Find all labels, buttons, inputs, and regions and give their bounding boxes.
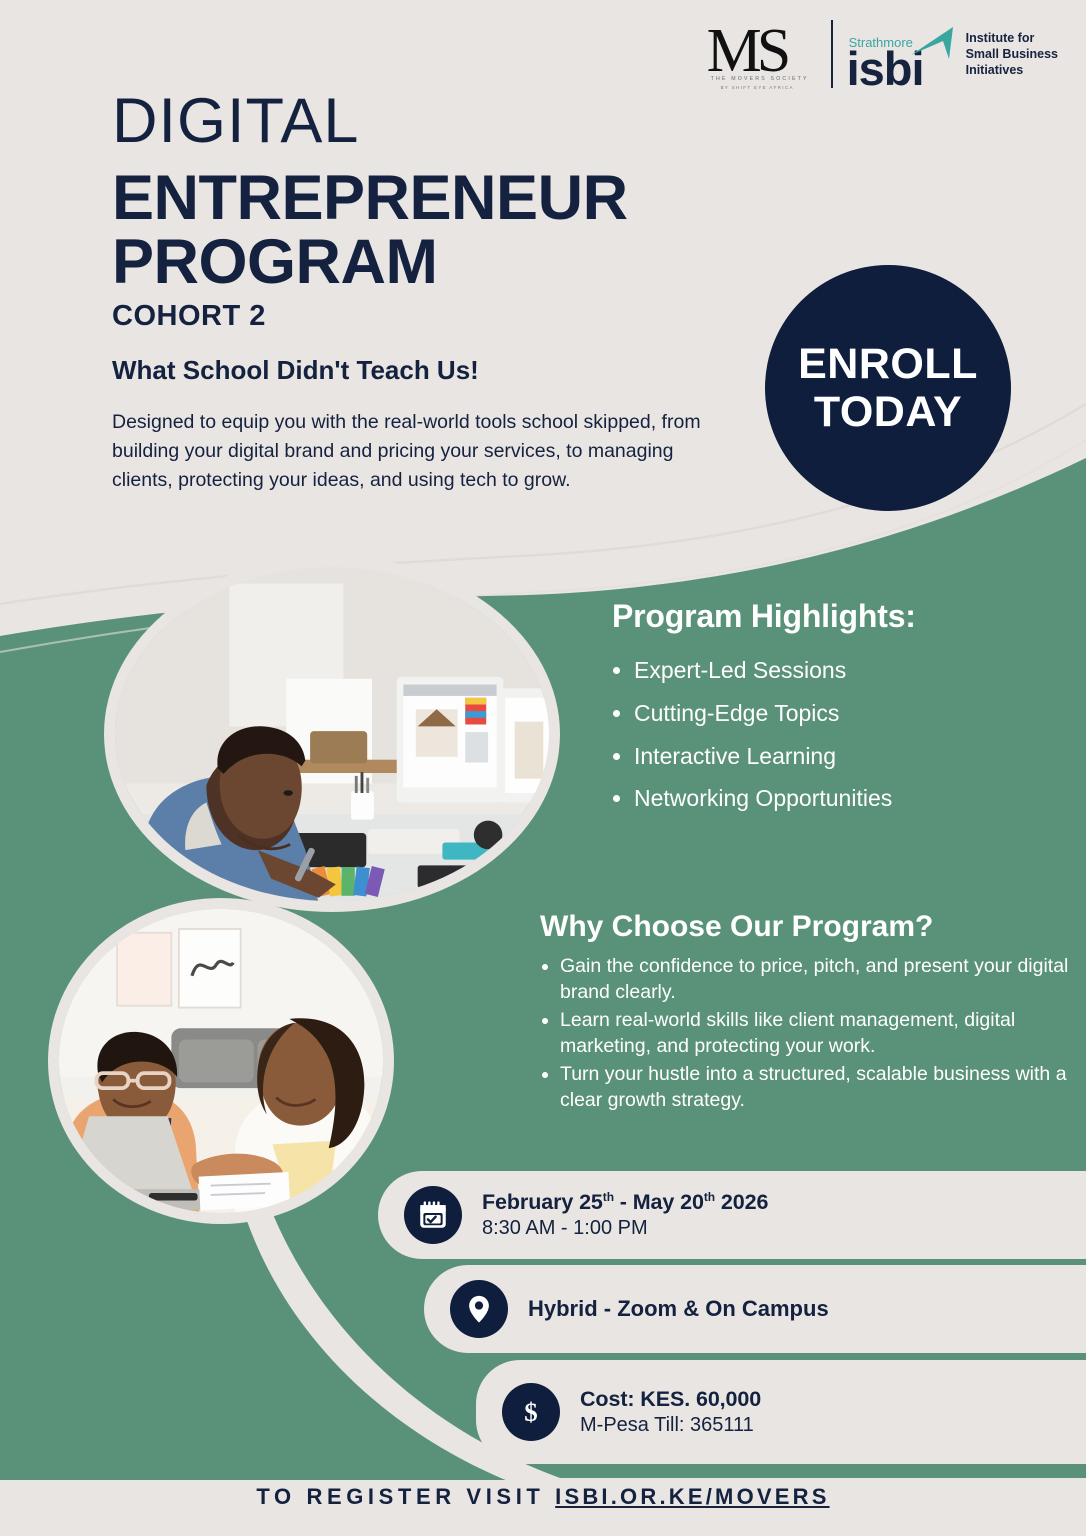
- svg-text:$: $: [524, 1397, 537, 1427]
- title-line-digital: DIGITAL: [112, 92, 772, 152]
- calendar-icon: [404, 1186, 462, 1244]
- date-primary: February 25th - May 20th 2026: [482, 1190, 768, 1215]
- title-line-entrepreneur: ENTREPRENEUR: [112, 166, 772, 230]
- dollar-icon: $: [502, 1383, 560, 1441]
- isbi-tagline: Institute for Small Business Initiatives: [966, 30, 1058, 79]
- date-start: February 25: [482, 1190, 603, 1214]
- location-primary: Hybrid - Zoom & On Campus: [528, 1296, 829, 1322]
- photo-two-women: [48, 898, 394, 1224]
- info-row-date: February 25th - May 20th 2026 8:30 AM - …: [378, 1171, 1086, 1259]
- list-item: Cutting-Edge Topics: [634, 692, 1072, 735]
- isbi-tagline-line-1: Institute for: [966, 30, 1058, 46]
- footer-register-line: TO REGISTER VISIT ISBI.OR.KE/MOVERS: [0, 1484, 1086, 1510]
- why-choose-list: Gain the confidence to price, pitch, and…: [560, 954, 1080, 1114]
- why-choose-block: Why Choose Our Program? Gain the confide…: [540, 910, 1080, 1116]
- isbi-tagline-line-3: Initiatives: [966, 62, 1058, 78]
- list-item: Gain the confidence to price, pitch, and…: [560, 954, 1080, 1006]
- info-row-cost: $ Cost: KES. 60,000 M-Pesa Till: 365111: [476, 1360, 1086, 1464]
- info-row-location: Hybrid - Zoom & On Campus: [424, 1265, 1086, 1353]
- movers-society-logo: MS THE MOVERS SOCIETY BY SHIFT EYE AFRIC…: [707, 14, 817, 94]
- cost-secondary: M-Pesa Till: 365111: [580, 1414, 761, 1437]
- isbi-tagline-line-2: Small Business: [966, 46, 1058, 62]
- headline-body-text: Designed to equip you with the real-worl…: [112, 408, 737, 495]
- isbi-logo: Strathmore isbi: [847, 15, 952, 93]
- isbi-swoosh-icon: [909, 25, 955, 65]
- list-item: Interactive Learning: [634, 735, 1072, 778]
- list-item: Networking Opportunities: [634, 777, 1072, 820]
- logo-bar: MS THE MOVERS SOCIETY BY SHIFT EYE AFRIC…: [707, 14, 1058, 94]
- ms-sublabel: THE MOVERS SOCIETY: [711, 76, 809, 82]
- why-choose-title: Why Choose Our Program?: [540, 910, 1080, 944]
- date-separator: - May 20: [614, 1190, 704, 1214]
- footer-url[interactable]: ISBI.OR.KE/MOVERS: [555, 1484, 829, 1509]
- info-row-date-text: February 25th - May 20th 2026 8:30 AM - …: [482, 1190, 768, 1240]
- date-year: 2026: [715, 1190, 768, 1214]
- list-item: Learn real-world skills like client mana…: [560, 1008, 1080, 1060]
- date-start-ordinal: th: [603, 1190, 614, 1204]
- photo-man-at-desk-illustration: [115, 567, 549, 901]
- title-line-program: PROGRAM: [112, 230, 772, 294]
- list-item: Expert-Led Sessions: [634, 649, 1072, 692]
- enroll-badge-line-1: ENROLL: [798, 340, 978, 388]
- poster-root: MS THE MOVERS SOCIETY BY SHIFT EYE AFRIC…: [0, 0, 1086, 1536]
- cohort-label: COHORT 2: [112, 300, 772, 333]
- cost-primary: Cost: KES. 60,000: [580, 1387, 761, 1412]
- program-highlights-title: Program Highlights:: [612, 598, 1072, 635]
- enroll-badge-line-2: TODAY: [814, 388, 962, 436]
- list-item: Turn your hustle into a structured, scal…: [560, 1062, 1080, 1114]
- date-end-ordinal: th: [704, 1190, 715, 1204]
- logo-divider: [831, 20, 833, 88]
- headline-block: DIGITAL ENTREPRENEUR PROGRAM COHORT 2 Wh…: [112, 92, 772, 495]
- enroll-today-badge[interactable]: ENROLL TODAY: [765, 265, 1011, 511]
- ms-sublabel-secondary: BY SHIFT EYE AFRICA: [721, 85, 794, 90]
- photo-man-at-desk: [104, 556, 560, 912]
- headline-tagline: What School Didn't Teach Us!: [112, 355, 772, 386]
- info-row-location-text: Hybrid - Zoom & On Campus: [528, 1296, 829, 1322]
- info-row-cost-text: Cost: KES. 60,000 M-Pesa Till: 365111: [580, 1387, 761, 1437]
- program-highlights-list: Expert-Led Sessions Cutting-Edge Topics …: [634, 649, 1072, 820]
- date-time: 8:30 AM - 1:00 PM: [482, 1217, 768, 1240]
- map-pin-icon: [450, 1280, 508, 1338]
- photo-two-women-illustration: [59, 909, 383, 1213]
- footer-prefix: TO REGISTER VISIT: [256, 1484, 555, 1509]
- program-highlights-block: Program Highlights: Expert-Led Sessions …: [612, 598, 1072, 820]
